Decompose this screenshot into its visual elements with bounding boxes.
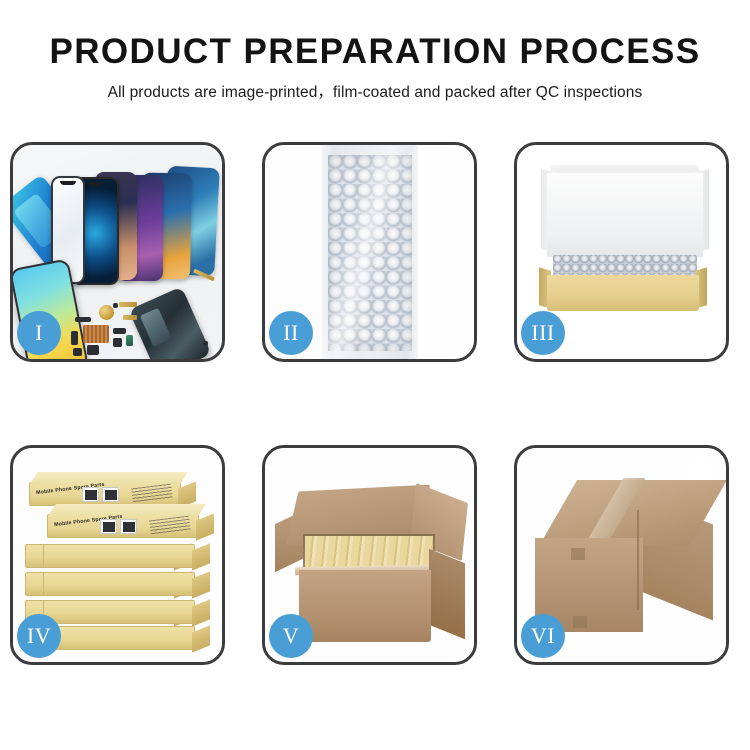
carton-tab-lower xyxy=(573,616,587,628)
page-title: PRODUCT PREPARATION PROCESS xyxy=(0,34,750,71)
box-side-face xyxy=(192,543,210,570)
printed-box-6 xyxy=(43,572,195,596)
chip-component-4 xyxy=(113,338,122,347)
process-step-panel-5: V xyxy=(262,445,477,665)
process-step-panel-6: VI xyxy=(514,445,729,665)
battery-connector xyxy=(126,335,133,346)
process-step-panel-3: III xyxy=(514,142,729,362)
process-step-panel-1: I xyxy=(10,142,225,362)
chip-component-1 xyxy=(75,317,91,322)
box-lid-inner xyxy=(547,173,703,257)
box-top-face xyxy=(30,472,188,484)
box-tray-front xyxy=(547,275,699,311)
box-print-thumbnail-2 xyxy=(120,519,137,534)
printed-box-top-2: Mobile Phone Spare Parts xyxy=(47,514,199,538)
logic-board-grid xyxy=(83,325,109,343)
process-step-panel-2: II xyxy=(262,142,477,362)
box-side-face xyxy=(192,571,210,598)
screw-component-2 xyxy=(203,341,208,346)
page-subtitle: All products are image-printed，film-coat… xyxy=(0,80,750,102)
printed-box-top-1: Mobile Phone Spare Parts xyxy=(29,482,181,506)
page-header: PRODUCT PREPARATION PROCESS All products… xyxy=(0,0,750,102)
step-badge-3: III xyxy=(521,311,565,355)
process-step-panel-4: Mobile Phone Spare Parts Mobile Phone Sp… xyxy=(10,445,225,665)
box-top-face xyxy=(48,504,206,516)
box-print-thumbnail-2 xyxy=(102,487,119,502)
plastic-sheen xyxy=(322,145,418,359)
speaker-component xyxy=(99,305,114,320)
screw-component-1 xyxy=(113,303,118,308)
step-badge-2: II xyxy=(269,311,313,355)
carton-edge-seam xyxy=(637,510,639,610)
carton-tab-upper xyxy=(571,548,585,560)
camera-module xyxy=(87,345,99,355)
vibration-motor xyxy=(73,348,82,356)
bubble-wrap-bag xyxy=(322,145,418,359)
phone-notch-icon xyxy=(87,182,103,186)
chip-component-3 xyxy=(113,328,126,334)
box-print-spec-lines xyxy=(149,516,191,536)
chip-component-2 xyxy=(71,331,78,345)
box-side-face xyxy=(196,513,214,540)
step-badge-6: VI xyxy=(521,614,565,658)
box-print-thumbnail-1 xyxy=(82,487,99,502)
flex-cable-2 xyxy=(123,315,137,320)
box-print-spec-lines xyxy=(131,484,173,504)
printed-box-9 xyxy=(43,626,195,650)
process-step-grid: I II III xyxy=(10,142,740,665)
carton-front-face xyxy=(299,570,431,642)
step-badge-5: V xyxy=(269,614,313,658)
flex-cable-1 xyxy=(119,302,137,307)
carton-side-right xyxy=(429,549,465,640)
printed-box-8 xyxy=(43,600,195,624)
box-side-face xyxy=(192,599,210,626)
printed-box-4 xyxy=(43,544,195,568)
box-side-face xyxy=(192,625,210,652)
glass-notch-icon xyxy=(60,181,76,185)
step-badge-4: IV xyxy=(17,614,61,658)
step-badge-1: I xyxy=(17,311,61,355)
box-print-thumbnail-1 xyxy=(100,519,117,534)
